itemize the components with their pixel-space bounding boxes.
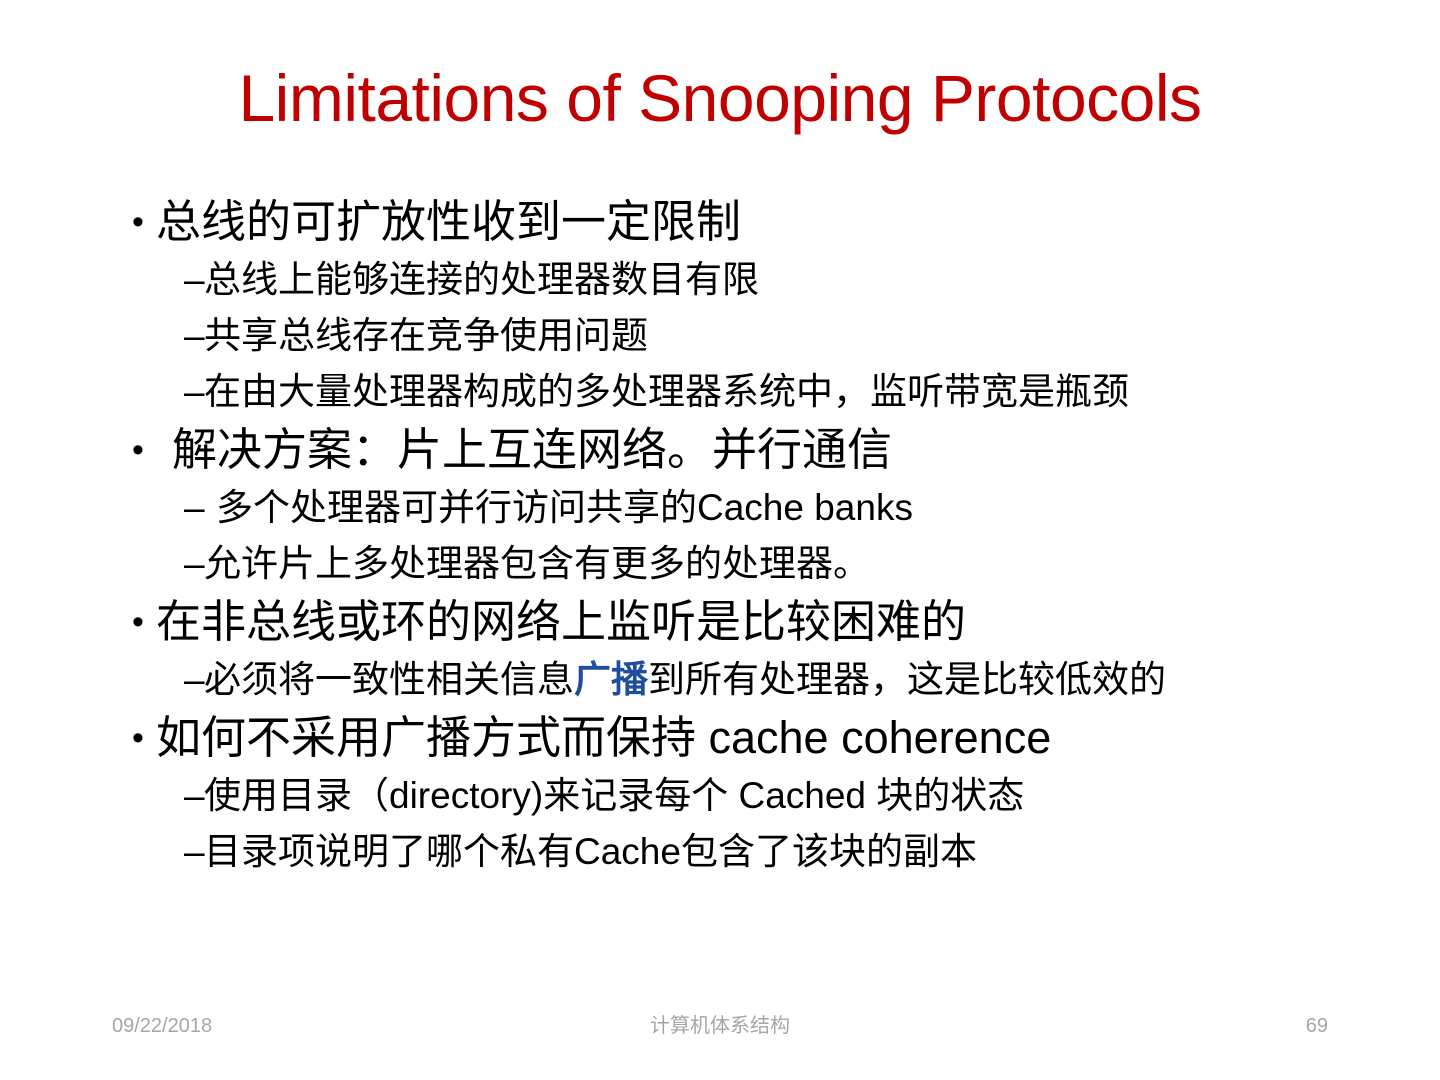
dash-marker-icon: –	[184, 536, 204, 592]
dash-marker-icon: –	[184, 768, 204, 824]
dash-marker-icon: –	[184, 308, 204, 364]
dash-marker-icon: –	[184, 252, 204, 308]
bullet-level2: – 在由大量处理器构成的多处理器系统中，监听带宽是瓶颈	[184, 364, 1358, 420]
bullet-level1: • 总线的可扩放性收到一定限制	[132, 192, 1358, 252]
bullet-text: 总线的可扩放性收到一定限制	[156, 192, 741, 252]
bullet-level2: – 允许片上多处理器包含有更多的处理器。	[184, 536, 1358, 592]
bullet-level2: – 目录项说明了哪个私有Cache包含了该块的副本	[184, 824, 1358, 880]
dash-marker-icon: –	[184, 824, 204, 880]
bullet-level1: • 如何不采用广播方式而保持 cache coherence	[132, 708, 1358, 768]
bullet-text-before: 必须将一致性相关信息	[204, 659, 574, 700]
dash-marker-icon: –	[184, 652, 204, 708]
bullet-level1: • 解决方案：片上互连网络。并行通信	[132, 420, 1358, 480]
slide-footer: 09/22/2018 计算机体系结构 69	[0, 1006, 1440, 1046]
bullet-text: 使用目录（directory)来记录每个 Cached 块的状态	[204, 768, 1024, 824]
bullet-text: 总线上能够连接的处理器数目有限	[204, 252, 759, 308]
bullet-text: 解决方案：片上互连网络。并行通信	[172, 420, 892, 480]
bullet-marker-icon: •	[132, 420, 172, 480]
slide: Limitations of Snooping Protocols • 总线的可…	[0, 0, 1440, 1080]
bullet-text: 在非总线或环的网络上监听是比较困难的	[156, 592, 966, 652]
bullet-marker-icon: •	[132, 192, 156, 252]
bullet-level2-highlight: – 必须将一致性相关信息广播到所有处理器，这是比较低效的	[184, 652, 1358, 708]
bullet-text: 目录项说明了哪个私有Cache包含了该块的副本	[204, 824, 977, 880]
bullet-text-after: 到所有处理器，这是比较低效的	[648, 659, 1166, 700]
bullet-text: 多个处理器可并行访问共享的Cache banks	[216, 480, 913, 536]
bullet-level2: – 共享总线存在竞争使用问题	[184, 308, 1358, 364]
bullet-text: 共享总线存在竞争使用问题	[204, 308, 648, 364]
bullet-text: 必须将一致性相关信息广播到所有处理器，这是比较低效的	[204, 652, 1166, 708]
bullet-text: 允许片上多处理器包含有更多的处理器。	[204, 536, 870, 592]
footer-page-number: 69	[1306, 1006, 1328, 1046]
bullet-level2: – 总线上能够连接的处理器数目有限	[184, 252, 1358, 308]
bullet-level2: – 使用目录（directory)来记录每个 Cached 块的状态	[184, 768, 1358, 824]
dash-marker-icon: –	[184, 364, 204, 420]
bullet-marker-icon: •	[132, 592, 156, 652]
highlighted-term: 广播	[574, 659, 648, 700]
bullet-text: 如何不采用广播方式而保持 cache coherence	[156, 708, 1051, 768]
slide-body: • 总线的可扩放性收到一定限制 – 总线上能够连接的处理器数目有限 – 共享总线…	[118, 192, 1358, 880]
bullet-level2: – 多个处理器可并行访问共享的Cache banks	[184, 480, 1358, 536]
footer-course-title: 计算机体系结构	[0, 1006, 1440, 1046]
bullet-marker-icon: •	[132, 708, 156, 768]
bullet-text: 在由大量处理器构成的多处理器系统中，监听带宽是瓶颈	[204, 364, 1129, 420]
dash-marker-icon: –	[184, 480, 216, 536]
page-title: Limitations of Snooping Protocols	[0, 62, 1440, 135]
bullet-level1: • 在非总线或环的网络上监听是比较困难的	[132, 592, 1358, 652]
